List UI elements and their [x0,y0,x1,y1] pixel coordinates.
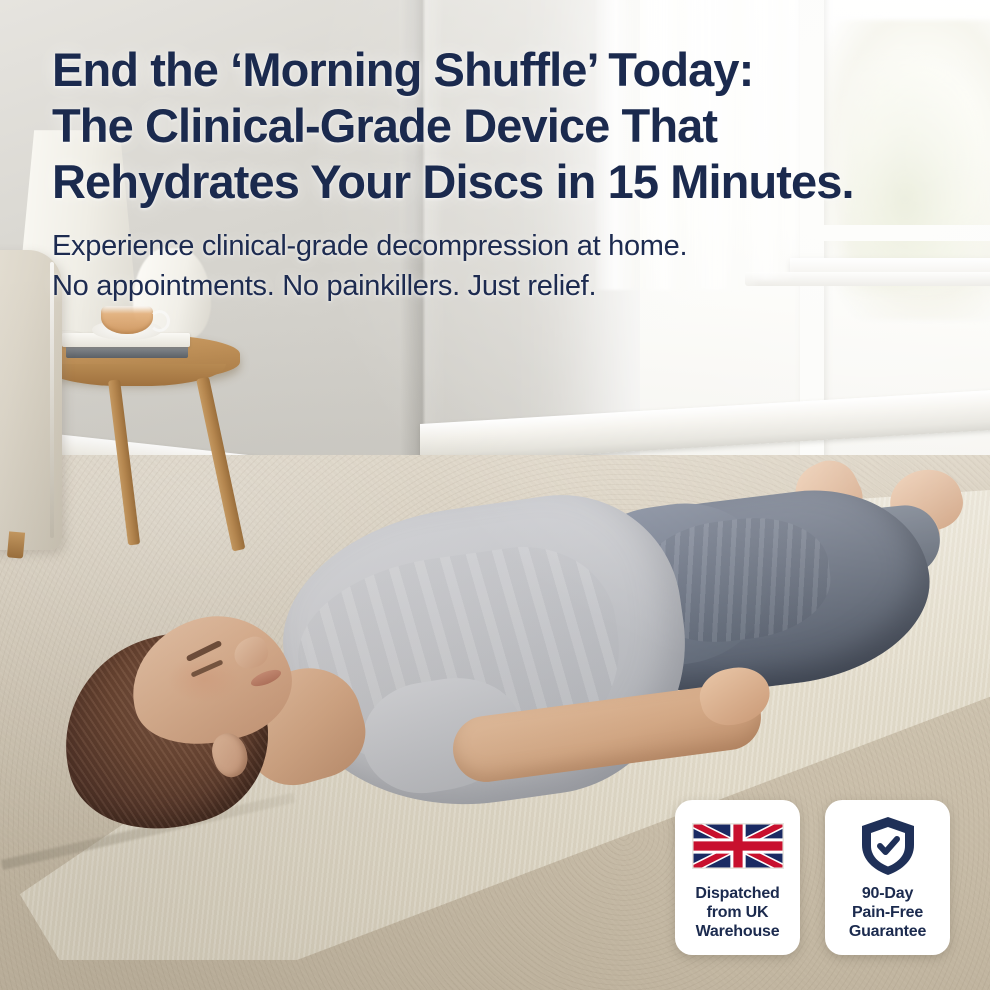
ad-copy-block: End the ‘Morning Shuffle’ Today: The Cli… [52,42,962,306]
badge-caption-line-3: Guarantee [849,922,926,941]
headline-line-3: Rehydrates Your Discs in 15 Minutes. [52,154,962,210]
armchair-leg [7,531,25,558]
shield-check-icon [858,817,918,875]
badge-caption-line-2: Pain-Free [849,903,926,922]
teacup-handle [149,310,170,332]
ad-creative-canvas: End the ‘Morning Shuffle’ Today: The Cli… [0,0,990,990]
subheadline-line-1: Experience clinical-grade decompression … [52,226,962,266]
uk-flag-icon [692,817,784,875]
headline-line-1: End the ‘Morning Shuffle’ Today: [52,42,962,98]
badge-90-day-guarantee[interactable]: 90-Day Pain-Free Guarantee [825,800,950,955]
trust-badge-row: Dispatched from UK Warehouse 90-Day Pain… [675,800,950,955]
badge-caption: 90-Day Pain-Free Guarantee [849,884,926,941]
badge-caption-line-2: from UK [695,903,779,922]
badge-caption: Dispatched from UK Warehouse [695,884,779,941]
badge-caption-line-1: 90-Day [849,884,926,903]
cheek-shading [168,655,240,703]
shield-check-svg [858,815,918,877]
badge-dispatched-from-uk[interactable]: Dispatched from UK Warehouse [675,800,800,955]
headline: End the ‘Morning Shuffle’ Today: The Cli… [52,42,962,210]
badge-caption-line-1: Dispatched [695,884,779,903]
headline-line-2: The Clinical-Grade Device That [52,98,962,154]
subheadline: Experience clinical-grade decompression … [52,226,962,306]
badge-caption-line-3: Warehouse [695,922,779,941]
uk-flag-svg [692,822,784,870]
subheadline-line-2: No appointments. No painkillers. Just re… [52,266,962,306]
